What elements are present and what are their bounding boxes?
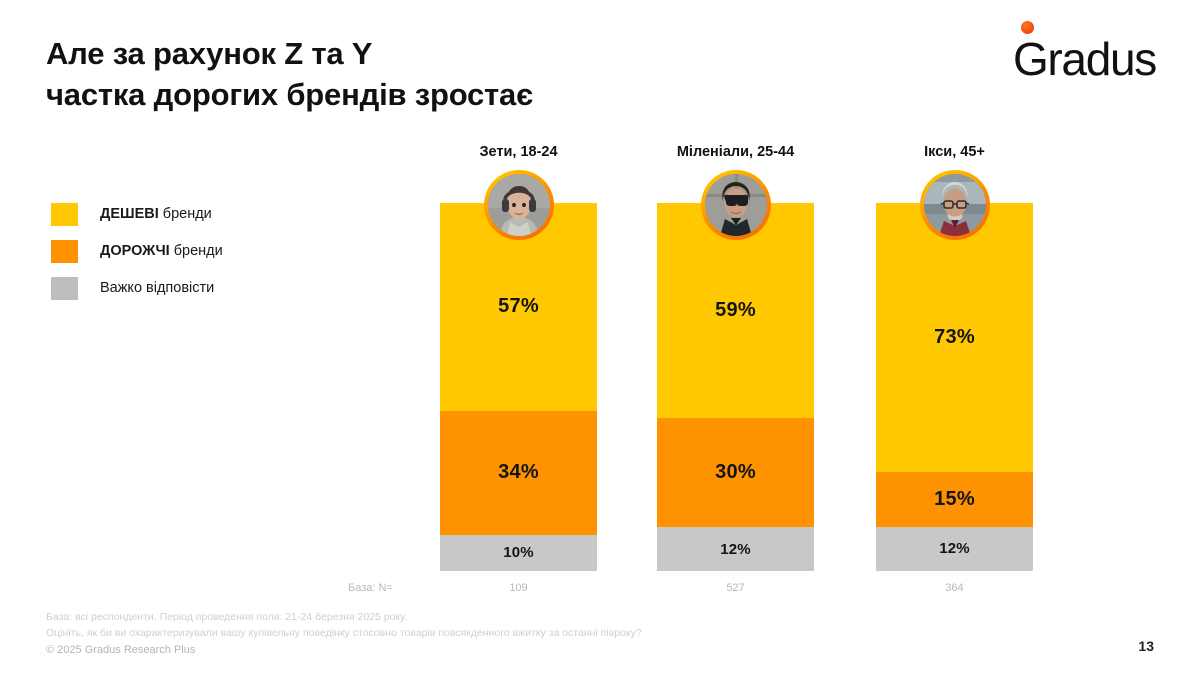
bar-column-zety: 57% 34% 10% (440, 203, 597, 571)
footnote-line-2: Оцініть, як би ви охарактеризували вашу … (46, 625, 642, 641)
column-header-zety: Зети, 18-24 (440, 144, 597, 160)
older-man-glasses-avatar (920, 170, 990, 240)
footnote-line-1: База: всі респонденти. Період проведення… (46, 609, 642, 625)
column-header-milenialy: Міленіали, 25-44 (657, 144, 814, 160)
segment-value: 59% (715, 299, 756, 322)
segment-value: 15% (934, 488, 975, 511)
segment-expensive: 15% (876, 472, 1033, 527)
segment-value: 10% (503, 544, 534, 561)
footnotes: База: всі респонденти. Період проведення… (46, 609, 642, 642)
segment-expensive: 34% (440, 411, 597, 535)
segment-hard-to-answer: 10% (440, 535, 597, 571)
page-number: 13 (1138, 638, 1154, 654)
segment-value: 12% (939, 540, 970, 557)
segment-cheap: 73% (876, 203, 1033, 472)
young-man-headphones-avatar (484, 170, 554, 240)
woman-sunglasses-avatar (701, 170, 771, 240)
segment-value: 57% (498, 295, 539, 318)
base-value-milenialy: 527 (657, 582, 814, 594)
base-value-iksy: 364 (876, 582, 1033, 594)
column-header-iksy: Ікси, 45+ (876, 144, 1033, 160)
stacked-bar-chart: Зети, 18-24 (0, 0, 1200, 675)
segment-value: 30% (715, 461, 756, 484)
segment-value: 12% (720, 541, 751, 558)
segment-expensive: 30% (657, 418, 814, 527)
copyright: © 2025 Gradus Research Plus (46, 644, 195, 656)
bar-column-milenialy: 59% 30% 12% (657, 203, 814, 571)
segment-value: 34% (498, 461, 539, 484)
base-label: База: N= (348, 582, 393, 594)
slide: Але за рахунок Z та Y частка дорогих бре… (0, 0, 1200, 675)
segment-hard-to-answer: 12% (876, 527, 1033, 571)
base-value-zety: 109 (440, 582, 597, 594)
bar-column-iksy: 73% 15% 12% (876, 203, 1033, 571)
segment-value: 73% (934, 326, 975, 349)
segment-hard-to-answer: 12% (657, 527, 814, 571)
